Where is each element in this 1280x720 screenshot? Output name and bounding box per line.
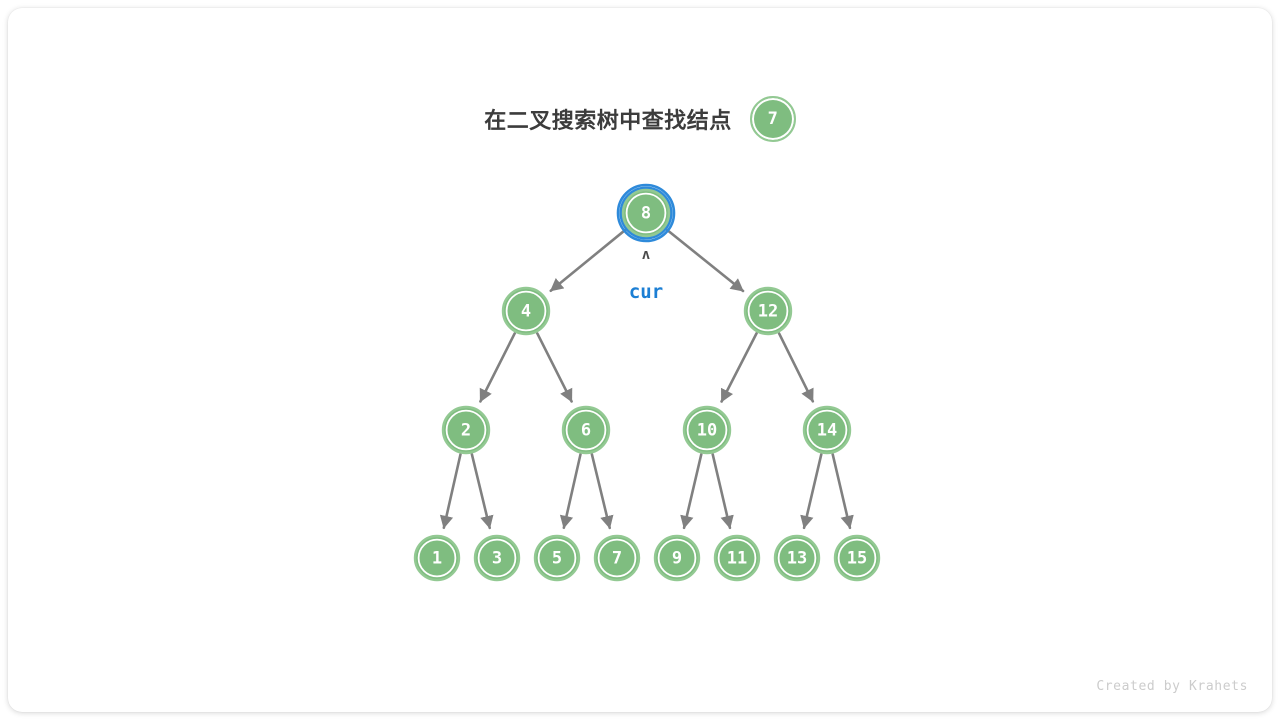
tree-node-value: 3	[492, 549, 502, 569]
tree-node-value: 15	[847, 549, 867, 569]
tree-node-4[interactable]: 4	[503, 288, 549, 334]
tree-node-value: 7	[612, 549, 622, 569]
footer-credit: Created by Krahets	[1096, 679, 1248, 694]
tree-node-value: 6	[581, 421, 591, 441]
tree-node-value: 14	[817, 421, 837, 441]
tree-edge	[537, 333, 571, 401]
tree-node-6[interactable]: 6	[563, 407, 609, 453]
tree-edge	[833, 454, 850, 527]
cur-pointer-caret-icon: ʌ	[642, 247, 650, 263]
tree-edge	[684, 454, 701, 527]
tree-edge	[779, 333, 813, 401]
tree-node-1[interactable]: 1	[415, 536, 459, 580]
tree-node-value: 8	[641, 204, 651, 224]
tree-node-value: 11	[727, 549, 747, 569]
tree-node-value: 5	[552, 549, 562, 569]
tree-node-13[interactable]: 13	[775, 536, 819, 580]
binary-search-tree-diagram: 841226101413579111315 ʌcur	[8, 8, 1272, 712]
cur-pointer-annotation: ʌcur	[629, 247, 663, 303]
tree-node-10[interactable]: 10	[684, 407, 730, 453]
tree-node-layer: 841226101413579111315	[415, 185, 879, 580]
tree-node-9[interactable]: 9	[655, 536, 699, 580]
tree-edge	[472, 454, 490, 528]
tree-node-value: 12	[758, 302, 778, 322]
tree-node-8[interactable]: 8	[618, 185, 674, 241]
tree-node-12[interactable]: 12	[745, 288, 791, 334]
tree-edge	[722, 333, 757, 401]
tree-node-value: 4	[521, 302, 531, 322]
tree-node-value: 1	[432, 549, 442, 569]
tree-edge	[804, 454, 821, 527]
tree-edge	[592, 454, 610, 528]
tree-node-value: 13	[787, 549, 807, 569]
tree-edge	[480, 333, 514, 401]
tree-edge	[564, 454, 581, 527]
tree-edge	[665, 229, 743, 291]
tree-edge	[551, 229, 627, 291]
tree-node-15[interactable]: 15	[835, 536, 879, 580]
tree-edge	[713, 454, 730, 527]
tree-node-11[interactable]: 11	[715, 536, 759, 580]
diagram-card: 在二叉搜索树中查找结点 7 841226101413579111315 ʌcur…	[8, 8, 1272, 712]
tree-node-value: 10	[697, 421, 717, 441]
screenshot-stage: 在二叉搜索树中查找结点 7 841226101413579111315 ʌcur…	[0, 0, 1280, 720]
tree-edge-layer	[444, 229, 850, 528]
tree-node-2[interactable]: 2	[443, 407, 489, 453]
tree-node-7[interactable]: 7	[595, 536, 639, 580]
tree-node-3[interactable]: 3	[475, 536, 519, 580]
tree-node-14[interactable]: 14	[804, 407, 850, 453]
tree-edge	[444, 454, 461, 527]
tree-node-value: 9	[672, 549, 682, 569]
cur-pointer-label: cur	[629, 281, 663, 303]
tree-node-5[interactable]: 5	[535, 536, 579, 580]
tree-node-value: 2	[461, 421, 471, 441]
